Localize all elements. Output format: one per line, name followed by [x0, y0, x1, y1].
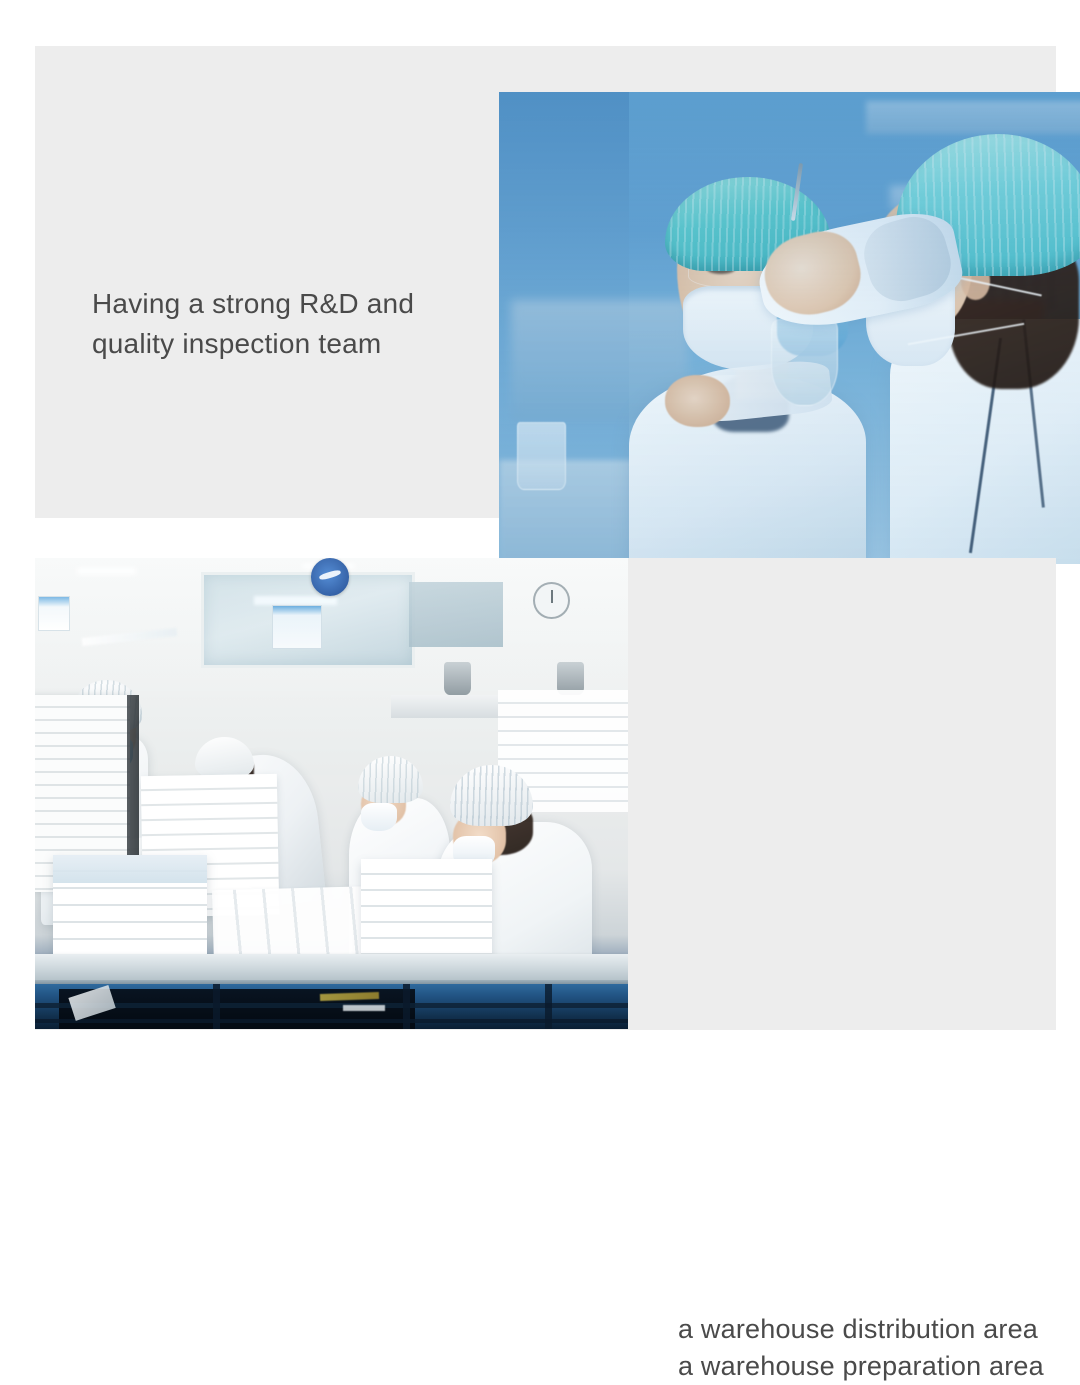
warehouse-scene	[35, 558, 628, 1029]
lab-color-cast	[499, 92, 1080, 564]
warehouse-caption: a warehouse distribution area a warehous…	[678, 1311, 1078, 1385]
rd-quality-caption: Having a strong R&D and quality inspecti…	[92, 284, 482, 364]
lab-quality-inspection-photo	[499, 92, 1080, 564]
lab-scene	[499, 92, 1080, 564]
page-root: Having a strong R&D and quality inspecti…	[0, 0, 1080, 1080]
section-rd-quality-panel: Having a strong R&D and quality inspecti…	[35, 46, 1056, 518]
warehouse-light-haze	[35, 558, 628, 1029]
warehouse-packing-photo	[35, 558, 628, 1029]
